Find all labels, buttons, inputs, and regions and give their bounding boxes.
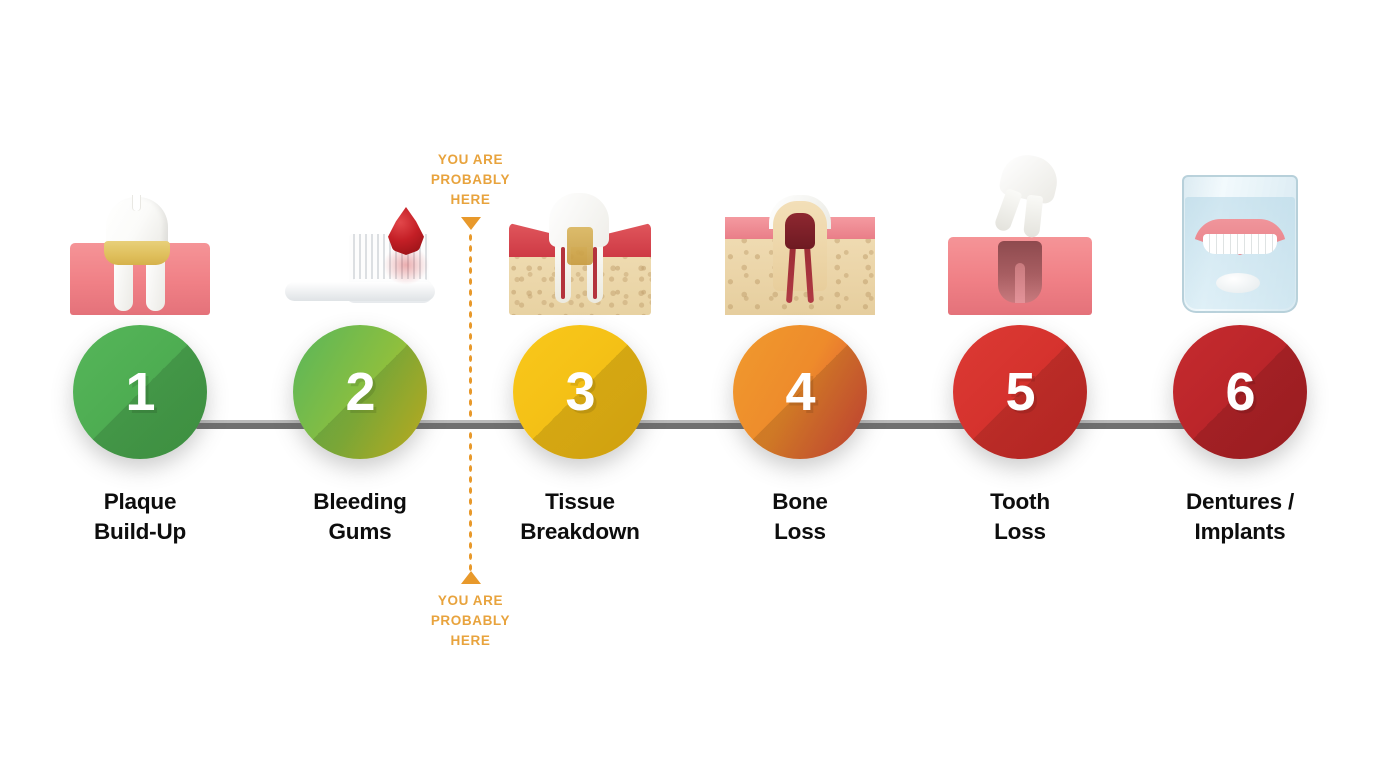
stage-6[interactable]: 6 Dentures / Implants xyxy=(1125,150,1355,620)
infographic-canvas: 1 Plaque Build-Up 2 Bleeding Gums xyxy=(0,0,1376,768)
triangle-down-icon xyxy=(461,217,481,230)
stage-1-caption: Plaque Build-Up xyxy=(94,487,186,547)
stage-6-badge[interactable]: 6 xyxy=(1173,325,1307,459)
triangle-up-icon xyxy=(461,571,481,584)
you-are-here-marker-top: YOU ARE PROBABLY HERE xyxy=(393,150,548,230)
dentures-in-glass-icon xyxy=(1165,150,1315,315)
extracted-tooth-socket-icon xyxy=(945,150,1095,315)
stage-2-number: 2 xyxy=(345,365,374,419)
stage-5-caption: Tooth Loss xyxy=(990,487,1050,547)
marker-bottom-line3: HERE xyxy=(431,631,510,651)
marker-dotted-line-upper xyxy=(468,232,473,418)
stage-6-number: 6 xyxy=(1225,365,1254,419)
you-are-here-marker-bottom: YOU ARE PROBABLY HERE xyxy=(393,571,548,651)
marker-bottom-line1: YOU ARE xyxy=(431,591,510,611)
stage-5-number: 5 xyxy=(1005,365,1034,419)
stage-6-caption-line2: Implants xyxy=(1186,517,1294,547)
stage-2-caption-line2: Gums xyxy=(313,517,406,547)
marker-bottom-line2: PROBABLY xyxy=(431,611,510,631)
stage-6-caption: Dentures / Implants xyxy=(1186,487,1294,547)
stage-3-caption: Tissue Breakdown xyxy=(520,487,639,547)
stage-1-number: 1 xyxy=(125,365,154,419)
marker-top-line1: YOU ARE xyxy=(431,150,510,170)
stage-2-badge[interactable]: 2 xyxy=(293,325,427,459)
stage-3-caption-line1: Tissue xyxy=(520,487,639,517)
stage-2-caption-line1: Bleeding xyxy=(313,487,406,517)
stage-1-caption-line2: Build-Up xyxy=(94,517,186,547)
marker-dotted-line-lower xyxy=(468,430,473,572)
tooth-with-plaque-icon xyxy=(65,150,215,315)
stage-5[interactable]: 5 Tooth Loss xyxy=(905,150,1135,620)
stage-5-caption-line1: Tooth xyxy=(990,487,1050,517)
stage-3-number: 3 xyxy=(565,365,594,419)
stage-4-badge[interactable]: 4 xyxy=(733,325,867,459)
stage-5-badge[interactable]: 5 xyxy=(953,325,1087,459)
stage-1[interactable]: 1 Plaque Build-Up xyxy=(25,150,255,620)
stage-4-caption-line2: Loss xyxy=(772,517,827,547)
stage-5-caption-line2: Loss xyxy=(990,517,1050,547)
marker-top-line3: HERE xyxy=(431,190,510,210)
stage-2-caption: Bleeding Gums xyxy=(313,487,406,547)
stage-3-badge[interactable]: 3 xyxy=(513,325,647,459)
stage-4-caption: Bone Loss xyxy=(772,487,827,547)
stage-4[interactable]: 4 Bone Loss xyxy=(685,150,915,620)
stage-4-number: 4 xyxy=(785,365,814,419)
tooth-cross-section-icon xyxy=(725,150,875,315)
stage-1-caption-line1: Plaque xyxy=(94,487,186,517)
stage-3-caption-line2: Breakdown xyxy=(520,517,639,547)
marker-top-line2: PROBABLY xyxy=(431,170,510,190)
stage-4-caption-line1: Bone xyxy=(772,487,827,517)
stage-6-caption-line1: Dentures / xyxy=(1186,487,1294,517)
stage-1-badge[interactable]: 1 xyxy=(73,325,207,459)
